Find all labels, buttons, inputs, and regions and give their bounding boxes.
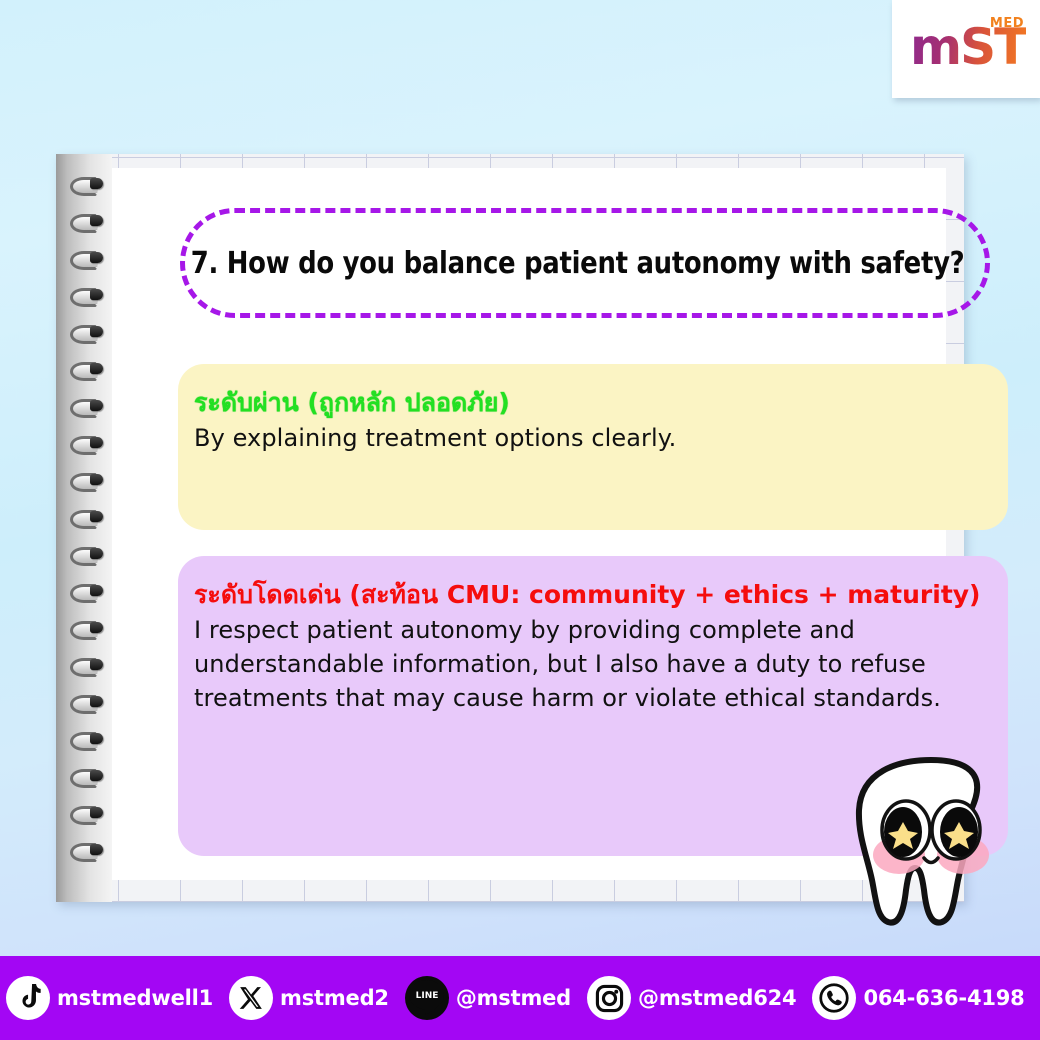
social-item-phone[interactable]: 064-636-4198 bbox=[812, 976, 1034, 1020]
spiral-ring bbox=[70, 694, 116, 709]
spiral-ring bbox=[70, 546, 116, 561]
spiral-ring bbox=[70, 805, 116, 820]
social-item-x[interactable]: mstmed2 bbox=[229, 976, 399, 1020]
x-twitter-icon[interactable] bbox=[229, 976, 273, 1020]
notebook-page: 7. How do you balance patient autonomy w… bbox=[112, 168, 946, 880]
question-box: 7. How do you balance patient autonomy w… bbox=[180, 208, 990, 318]
footer-social-bar: mstmedwell1 mstmed2 LINE @mstmed bbox=[0, 956, 1040, 1040]
instagram-icon[interactable] bbox=[587, 976, 631, 1020]
phone-icon[interactable] bbox=[812, 976, 856, 1020]
spiral-ring bbox=[70, 213, 116, 228]
spiral-ring bbox=[70, 250, 116, 265]
brand-badge: mST MED bbox=[892, 0, 1040, 98]
brand-logo: mST MED bbox=[906, 18, 1026, 80]
spiral-ring bbox=[70, 620, 116, 635]
spiral-ring bbox=[70, 842, 116, 857]
line-handle[interactable]: @mstmed bbox=[456, 986, 571, 1010]
notebook: 7. How do you balance patient autonomy w… bbox=[56, 154, 964, 902]
spiral-ring bbox=[70, 361, 116, 376]
x-handle[interactable]: mstmed2 bbox=[280, 986, 389, 1010]
spiral-ring bbox=[70, 472, 116, 487]
spiral-binding bbox=[56, 154, 112, 902]
pass-level-heading: ระดับผ่าน (ถูกหลัก ปลอดภัย) bbox=[194, 388, 992, 419]
svg-text:LINE: LINE bbox=[415, 991, 438, 1001]
spiral-ring bbox=[70, 398, 116, 413]
tooth-mascot-icon bbox=[845, 752, 1017, 930]
line-icon[interactable]: LINE bbox=[405, 976, 449, 1020]
outstanding-level-heading: ระดับโดดเด่น (สะท้อน CMU: community + et… bbox=[194, 580, 992, 611]
answer-card-pass-level: ระดับผ่าน (ถูกหลัก ปลอดภัย) By explainin… bbox=[178, 364, 1008, 530]
question-text: 7. How do you balance patient autonomy w… bbox=[185, 246, 968, 281]
spiral-ring bbox=[70, 731, 116, 746]
social-item-tiktok[interactable]: mstmedwell1 bbox=[6, 976, 223, 1020]
instagram-handle[interactable]: @mstmed624 bbox=[638, 986, 796, 1010]
phone-number[interactable]: 064-636-4198 bbox=[863, 986, 1024, 1010]
tiktok-icon[interactable] bbox=[6, 976, 50, 1020]
spiral-ring bbox=[70, 768, 116, 783]
social-item-instagram[interactable]: @mstmed624 bbox=[587, 976, 806, 1020]
spiral-ring bbox=[70, 657, 116, 672]
spiral-ring bbox=[70, 509, 116, 524]
brand-suffix: MED bbox=[990, 16, 1024, 31]
spiral-ring bbox=[70, 583, 116, 598]
pass-level-body: By explaining treatment options clearly. bbox=[194, 421, 992, 455]
social-item-line[interactable]: LINE @mstmed bbox=[405, 976, 581, 1020]
spiral-ring bbox=[70, 435, 116, 450]
spiral-ring bbox=[70, 287, 116, 302]
outstanding-level-body: I respect patient autonomy by providing … bbox=[194, 613, 992, 715]
tiktok-handle[interactable]: mstmedwell1 bbox=[57, 986, 213, 1010]
spiral-ring bbox=[70, 176, 116, 191]
spiral-ring bbox=[70, 324, 116, 339]
